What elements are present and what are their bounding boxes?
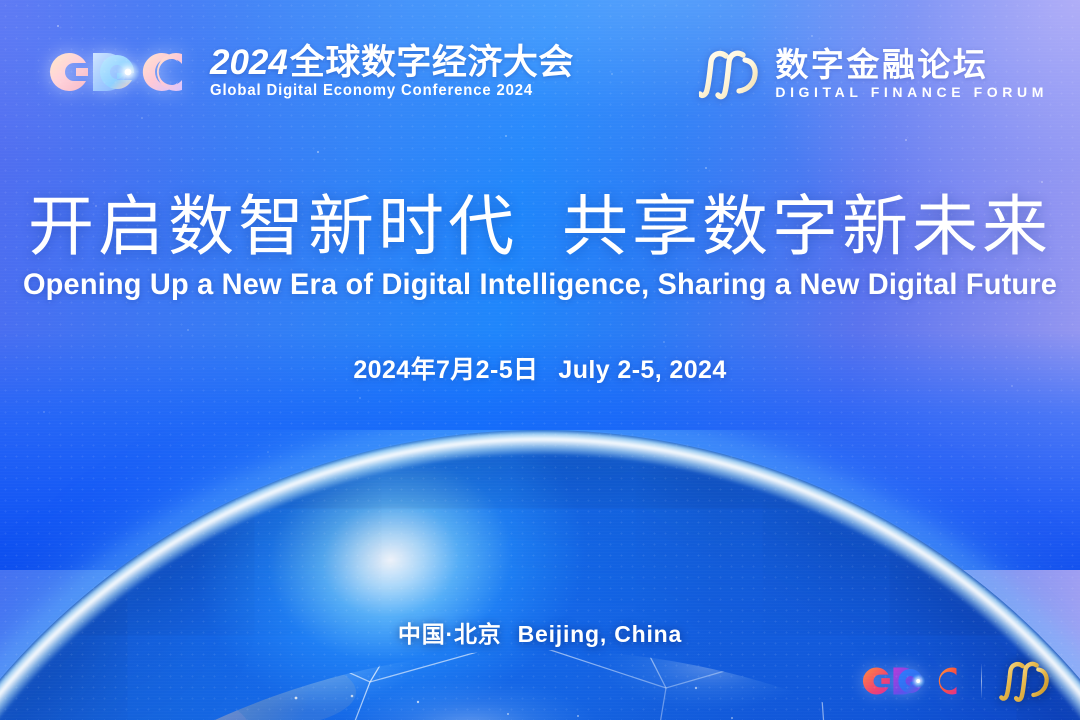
- conference-backdrop: 2024全球数字经济大会 Global Digital Economy Conf…: [0, 0, 1080, 720]
- led-scanline-texture: [0, 0, 1080, 720]
